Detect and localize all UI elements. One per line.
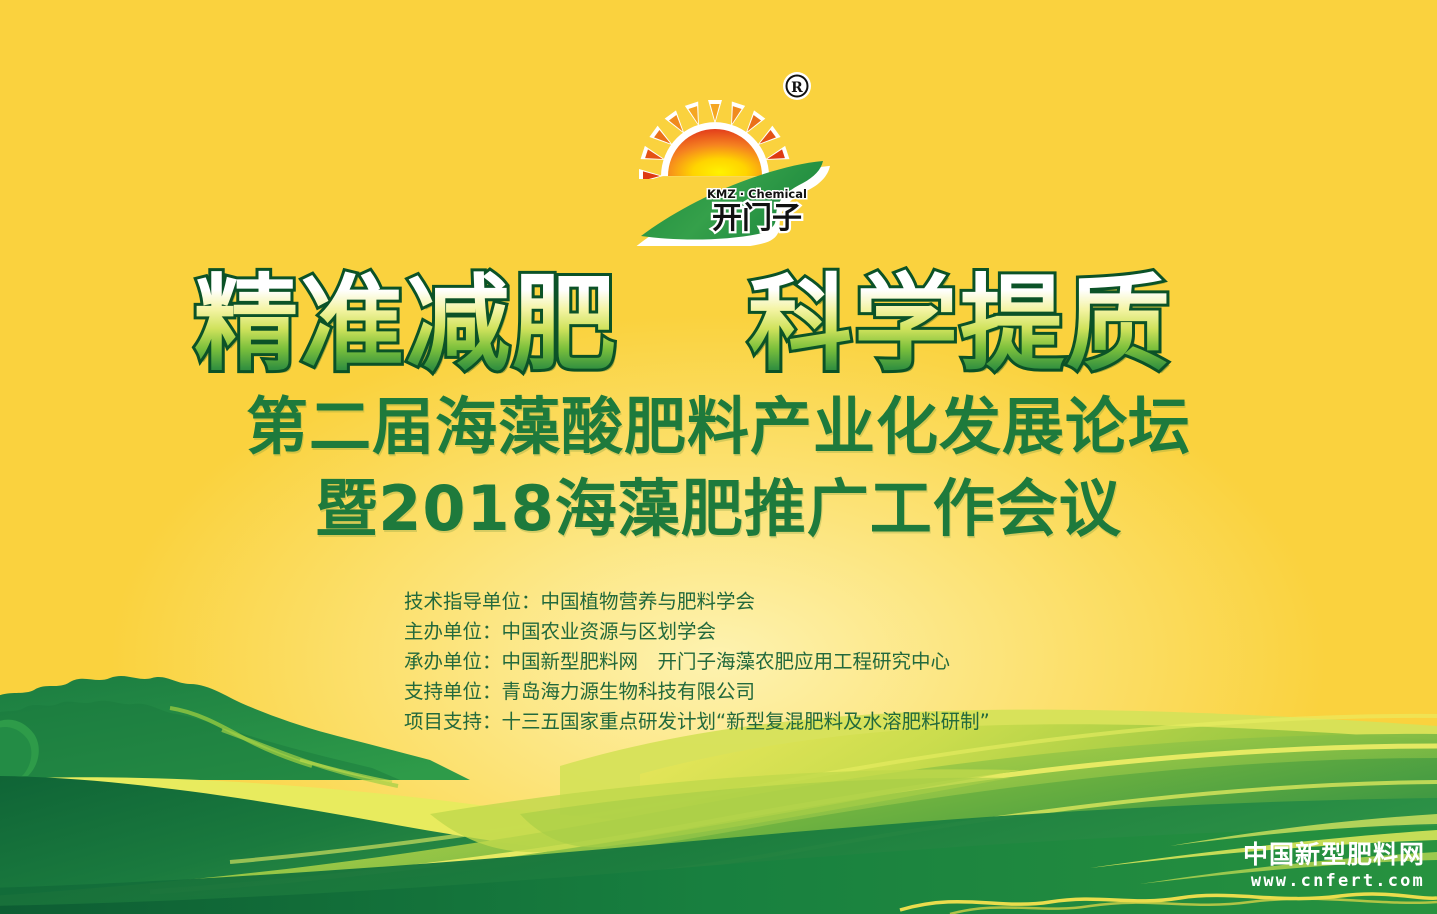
watermark-url: www.cnfert.com (1243, 873, 1425, 890)
info-line-support-unit: 支持单位：青岛海力源生物科技有限公司 (404, 677, 1124, 707)
info-line-organizer-unit: 承办单位：中国新型肥料网 开门子海藻农肥应用工程研究中心 (404, 647, 1124, 677)
sun-icon (661, 122, 769, 176)
logo-brand-text: KMZ · Chemical 开门子 (707, 187, 807, 236)
info-line-project-support: 项目支持：十三五国家重点研发计划“新型复混肥料及水溶肥料研制” (404, 707, 1124, 737)
organizer-info-block: 技术指导单位：中国植物营养与肥料学会 主办单位：中国农业资源与区划学会 承办单位… (404, 587, 1124, 737)
info-line-host-unit: 主办单位：中国农业资源与区划学会 (404, 617, 1124, 647)
svg-text:精准减肥: 精准减肥 (194, 263, 618, 385)
mountain-silhouette (0, 676, 470, 786)
brand-logo: R KMZ · Chemical 开门子 (627, 66, 832, 246)
svg-text:KMZ · Chemical: KMZ · Chemical (707, 187, 807, 201)
svg-text:R: R (791, 80, 803, 96)
svg-text:开门子: 开门子 (712, 201, 802, 236)
headline-slogan: 精准减肥 科学提质 精准减肥 科学提质 (0, 262, 1437, 392)
info-line-technical-guidance: 技术指导单位：中国植物营养与肥料学会 (404, 587, 1124, 617)
registered-trademark-icon: R (783, 72, 811, 100)
watermark-site-name: 中国新型肥料网 (1243, 842, 1425, 867)
event-subtitle: 第二届海藻酸肥料产业化发展论坛 暨2018海藻肥推广工作会议 (0, 396, 1437, 540)
subtitle-line-2: 暨2018海藻肥推广工作会议 (0, 478, 1437, 540)
site-watermark: 中国新型肥料网 www.cnfert.com (1243, 842, 1425, 890)
svg-text:科学提质: 科学提质 (748, 263, 1172, 385)
poster-canvas: R KMZ · Chemical 开门子 (0, 0, 1437, 914)
subtitle-line-1: 第二届海藻酸肥料产业化发展论坛 (0, 396, 1437, 458)
